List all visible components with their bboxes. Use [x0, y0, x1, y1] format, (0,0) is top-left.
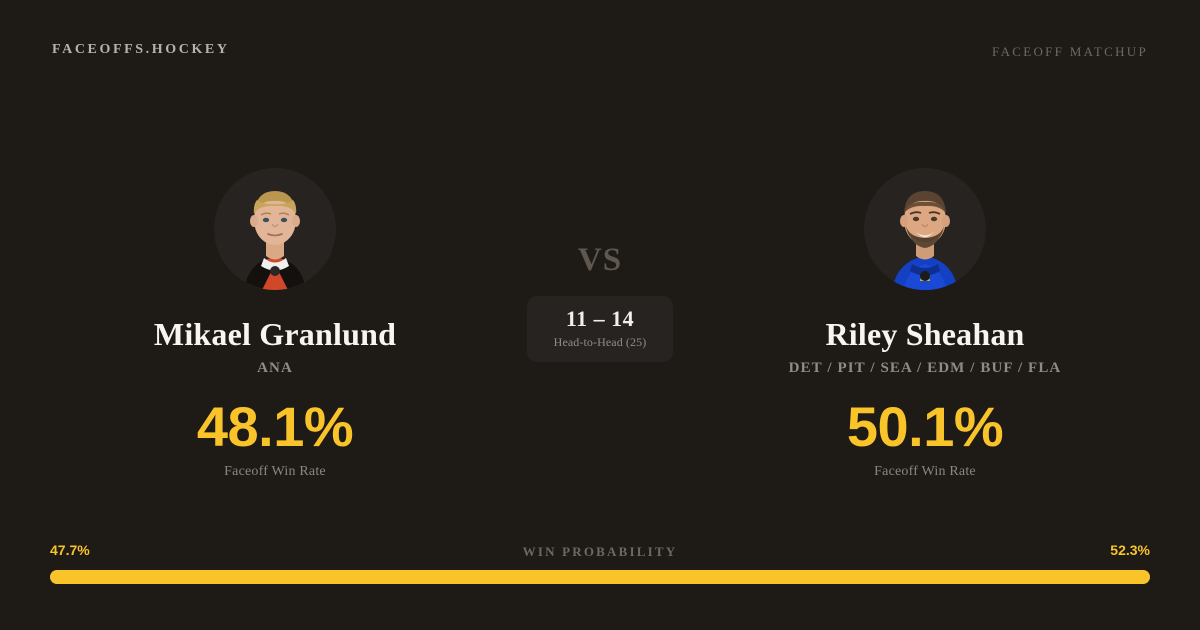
player-headshot-granlund: [214, 168, 336, 290]
win-probability-section: 47.7% WIN PROBABILITY 52.3%: [50, 542, 1150, 584]
header-subtitle: FACEOFF MATCHUP: [992, 44, 1148, 60]
head-to-head-label: Head-to-Head (25): [537, 335, 663, 350]
win-probability-title: WIN PROBABILITY: [50, 544, 1150, 560]
player-headshot-sheahan: [864, 168, 986, 290]
faceoff-win-rate-label: Faceoff Win Rate: [60, 464, 490, 480]
faceoff-win-rate-label: Faceoff Win Rate: [710, 464, 1140, 480]
player-name: Mikael Granlund: [60, 316, 490, 353]
player-name: Riley Sheahan: [710, 316, 1140, 353]
win-probability-fill-right: [575, 570, 1150, 584]
head-to-head-card[interactable]: 11 – 14 Head-to-Head (25): [527, 296, 673, 362]
faceoff-win-rate-value: 50.1%: [710, 399, 1140, 455]
win-probability-bar[interactable]: [50, 570, 1150, 584]
site-brand: FACEOFFS.HOCKEY: [52, 42, 230, 58]
head-to-head-score: 11 – 14: [537, 307, 663, 331]
player-teams: ANA: [60, 360, 490, 377]
win-probability-values: 47.7% WIN PROBABILITY 52.3%: [50, 542, 1150, 562]
player-card-left[interactable]: Mikael Granlund ANA 48.1% Faceoff Win Ra…: [60, 168, 490, 480]
faceoff-win-rate-value: 48.1%: [60, 399, 490, 455]
vs-label: VS: [500, 244, 700, 277]
versus-block: VS 11 – 14 Head-to-Head (25): [500, 244, 700, 362]
player-card-right[interactable]: Riley Sheahan DET / PIT / SEA / EDM / BU…: [710, 168, 1140, 480]
matchup-card: FACEOFFS.HOCKEY FACEOFF MATCHUP: [0, 0, 1200, 630]
player-teams: DET / PIT / SEA / EDM / BUF / FLA: [710, 360, 1140, 377]
win-probability-fill-left: [50, 570, 575, 584]
win-probability-right-value: 52.3%: [1110, 542, 1150, 558]
